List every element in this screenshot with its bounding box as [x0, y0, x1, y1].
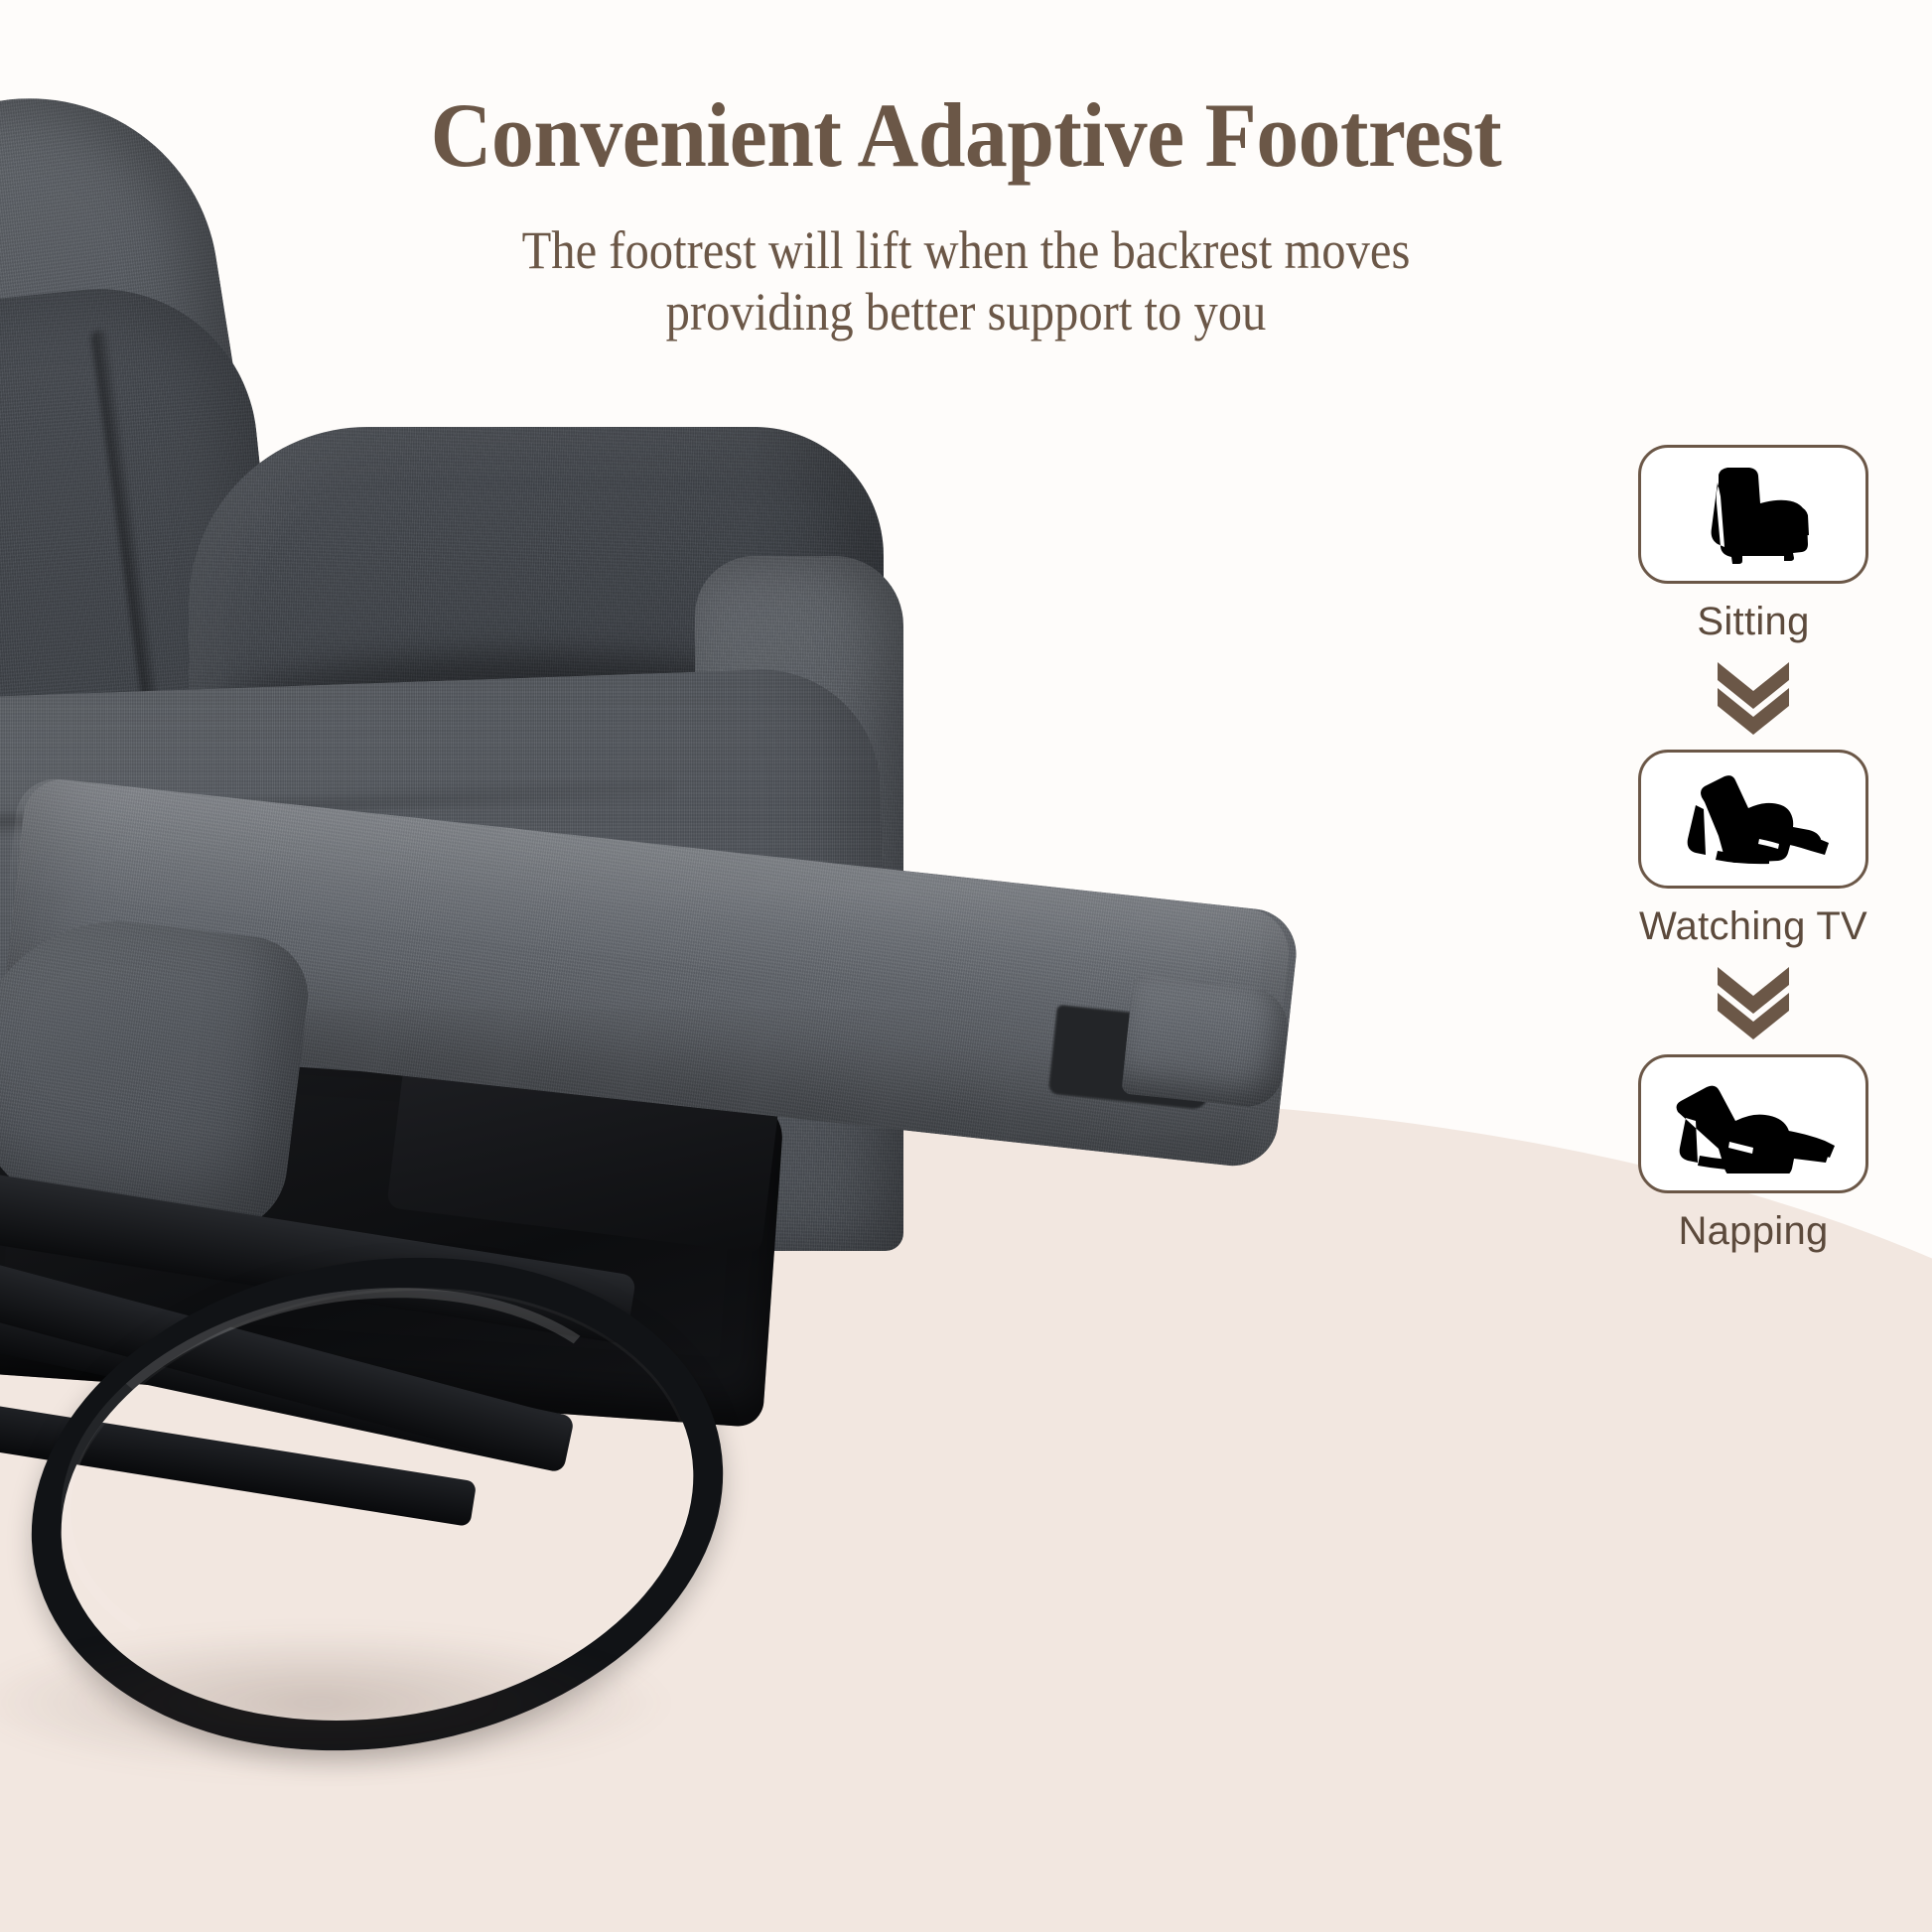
position-label-napping: Napping	[1678, 1209, 1828, 1254]
recliner-reclined-icon	[1674, 767, 1833, 871]
position-step-napping[interactable]	[1638, 1054, 1868, 1193]
product-feature-banner: Convenient Adaptive Footrest The footres…	[0, 0, 1932, 1932]
position-step-sitting[interactable]	[1638, 445, 1868, 584]
double-chevron-down-icon-2	[1708, 963, 1799, 1040]
position-label-watching-tv: Watching TV	[1639, 904, 1867, 949]
position-flow-column: Sitting Watching TV	[1604, 445, 1902, 1254]
footrest-end-cap	[1121, 975, 1292, 1110]
position-label-sitting: Sitting	[1697, 600, 1809, 644]
base-contact-shadow	[0, 1628, 675, 1777]
position-step-watching-tv[interactable]	[1638, 750, 1868, 889]
recliner-upright-icon	[1679, 463, 1828, 566]
recliner-chair-photo	[0, 0, 1549, 1932]
recliner-flat-icon	[1672, 1074, 1835, 1173]
double-chevron-down-icon-1	[1708, 658, 1799, 736]
